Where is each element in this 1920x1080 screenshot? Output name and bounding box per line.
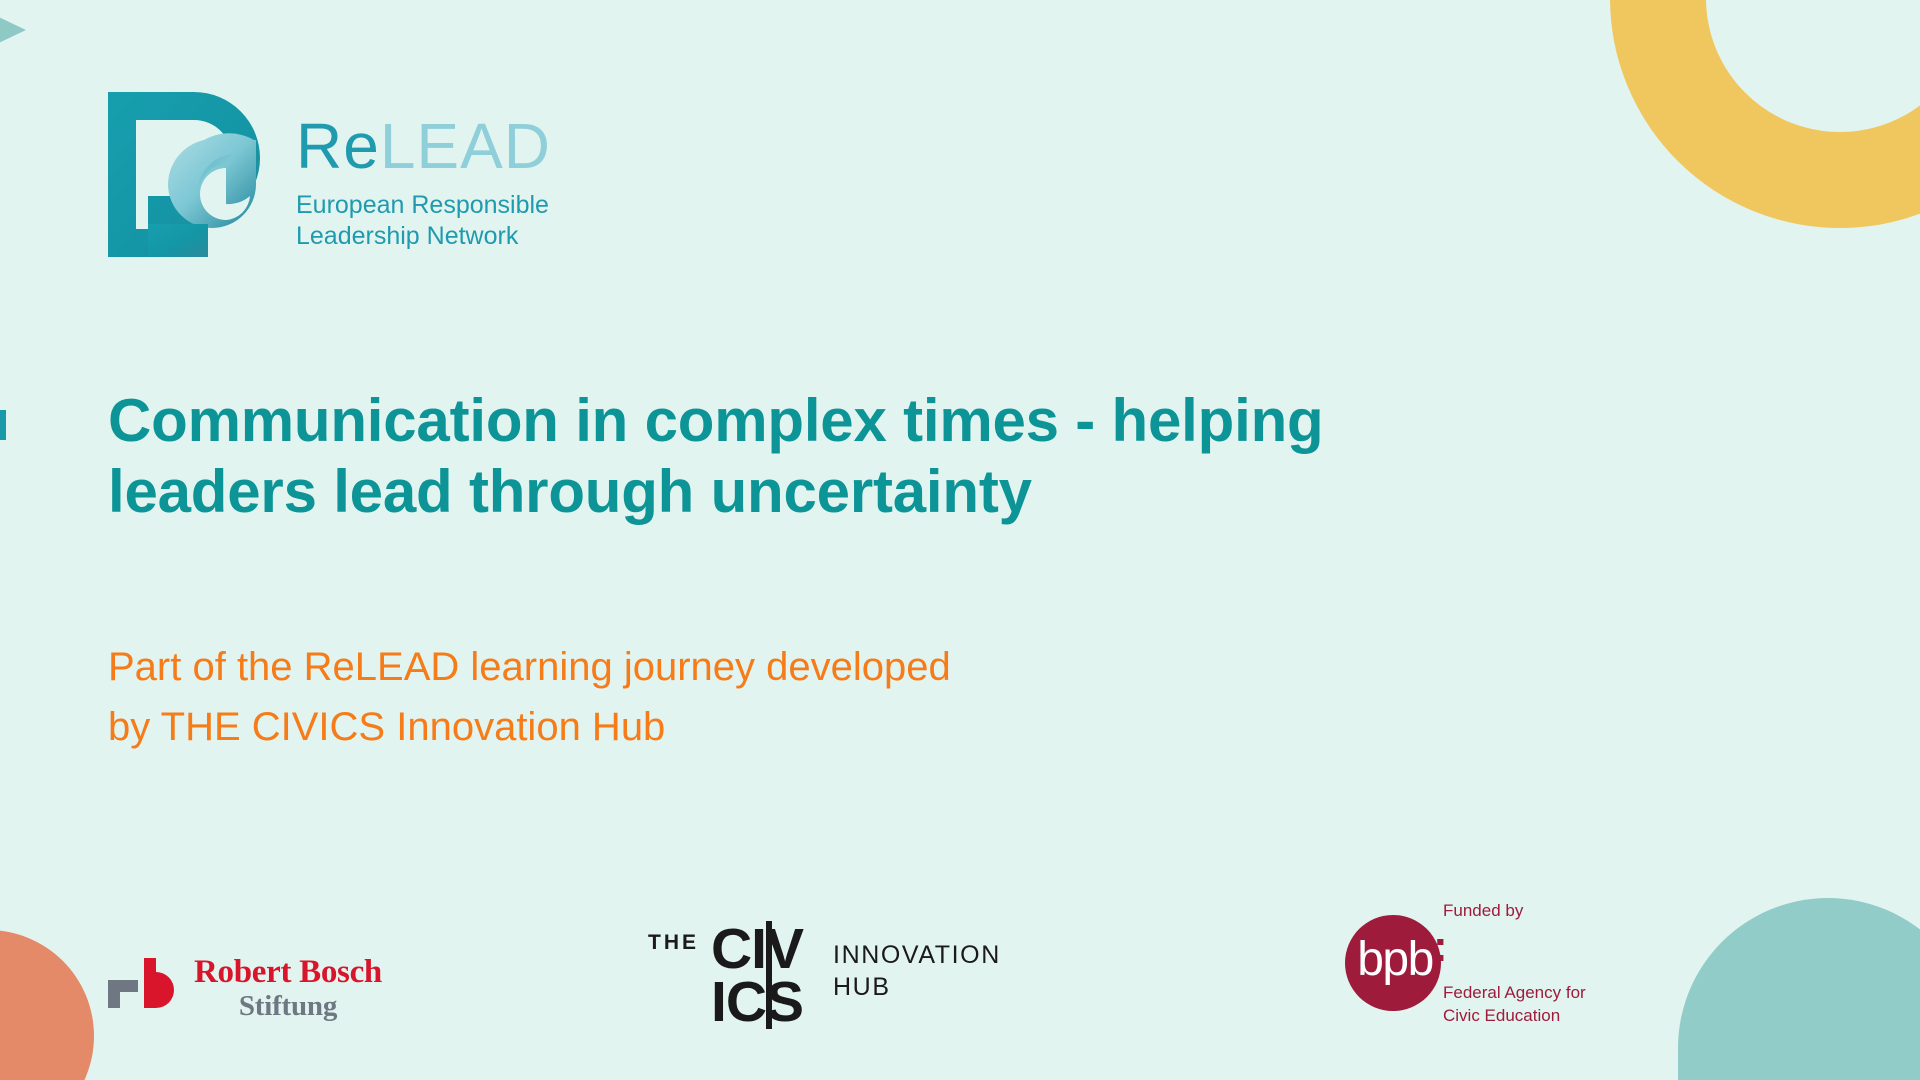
slide-subtitle: Part of the ReLEAD learning journey deve… <box>108 637 1408 757</box>
bpb-mark-text: bpb <box>1357 936 1433 984</box>
teal-square-decoration <box>0 410 6 440</box>
bpb-agency-name: Federal Agency for Civic Education <box>1443 982 1586 1028</box>
bpb-funding-logo: bpb Funded by : Federal Agency for Civic… <box>1345 901 1586 1028</box>
relead-wordblock: ReLEAD European Responsible Leadership N… <box>296 92 551 252</box>
civics-divider-bar <box>766 921 772 1029</box>
wordmark-re: Re <box>296 110 380 182</box>
bosch-mark-icon <box>108 958 180 1020</box>
bpb-funded-by: Funded by <box>1443 901 1586 921</box>
bosch-wordmark: Robert Bosch Stiftung <box>194 955 382 1022</box>
civics-letter-stack: CIV ICS <box>711 923 803 1028</box>
relead-spiral-mark-icon <box>108 92 260 257</box>
yellow-ring-decoration <box>1610 0 1920 228</box>
robert-bosch-stiftung-logo: Robert Bosch Stiftung <box>108 955 382 1022</box>
civics-the: THE <box>648 931 699 955</box>
wordmark-lead: LEAD <box>380 110 551 182</box>
bosch-sub: Stiftung <box>194 991 382 1022</box>
civics-innovation-hub-logo: THE CIV ICS INNOVATION HUB <box>648 923 1001 1028</box>
bpb-colon-row: : <box>1427 939 1586 960</box>
slide-title: Communication in complex times - helping… <box>108 386 1588 528</box>
civics-tagline: INNOVATION HUB <box>833 939 1001 1003</box>
relead-logo: ReLEAD European Responsible Leadership N… <box>108 92 551 257</box>
teal-triangle-decoration <box>0 8 26 52</box>
presentation-slide: ReLEAD European Responsible Leadership N… <box>0 0 1920 1080</box>
relead-tagline: European Responsible Leadership Network <box>296 190 551 252</box>
civics-letters: CIV ICS <box>711 923 803 1028</box>
bosch-name: Robert Bosch <box>194 955 382 990</box>
footer-logo-row: Robert Bosch Stiftung THE CIV ICS INNOVA… <box>0 860 1920 1080</box>
bpb-text-block: Funded by : Federal Agency for Civic Edu… <box>1427 901 1586 1028</box>
bpb-colon: : <box>1433 933 1448 960</box>
relead-wordmark: ReLEAD <box>296 114 551 178</box>
